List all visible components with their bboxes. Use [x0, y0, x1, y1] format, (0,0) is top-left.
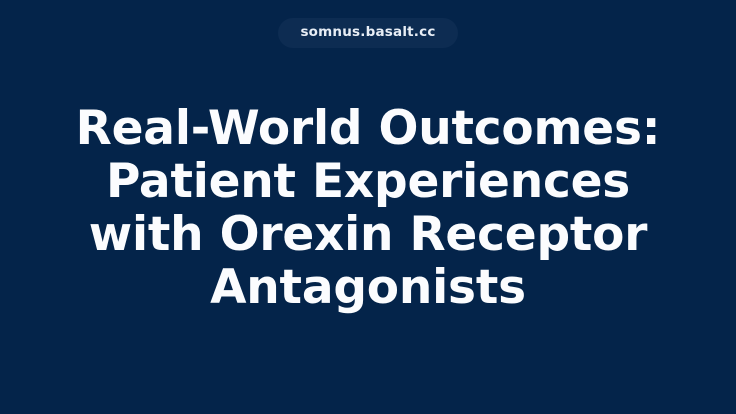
page-title-line: Real-World Outcomes:: [60, 102, 676, 155]
page-title: Real-World Outcomes: Patient Experiences…: [0, 48, 736, 414]
page-title-line: with Orexin Receptor: [60, 208, 676, 261]
page-title-line: Patient Experiences: [60, 155, 676, 208]
site-domain-badge: somnus.basalt.cc: [278, 18, 457, 48]
page-title-line: Antagonists: [60, 261, 676, 314]
title-card: somnus.basalt.cc Real-World Outcomes: Pa…: [0, 0, 736, 414]
site-domain-label: somnus.basalt.cc: [300, 26, 435, 40]
